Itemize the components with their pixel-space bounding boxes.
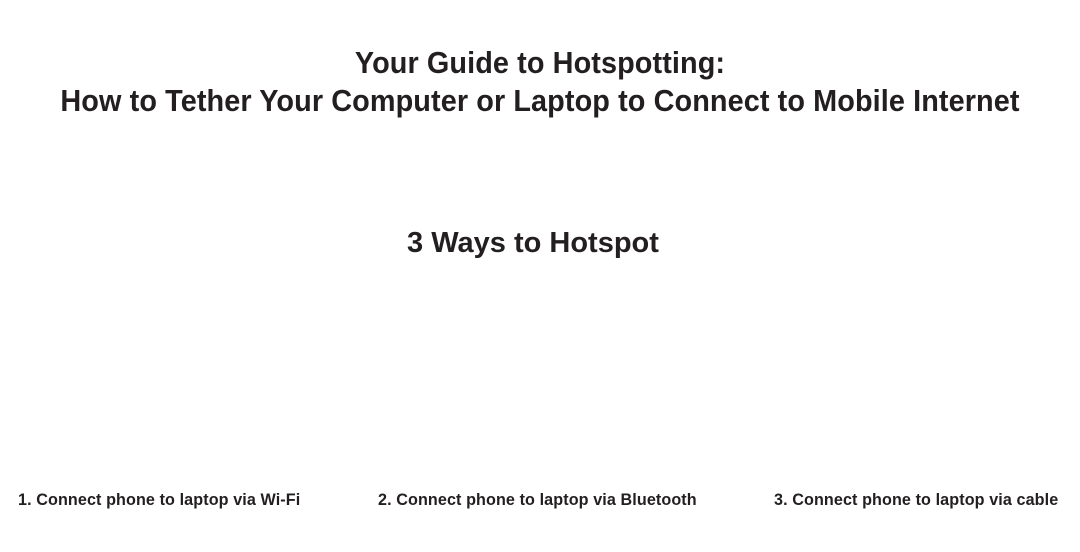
infographic-page: Your Guide to Hotspotting: How to Tether… [0, 0, 1080, 552]
step-caption-row: 1. Connect phone to laptop via Wi-Fi 2. … [0, 488, 1080, 516]
page-title-line-2: How to Tether Your Computer or Laptop to… [38, 82, 1042, 120]
page-title-line-1: Your Guide to Hotspotting: [38, 44, 1042, 82]
illustration-band [0, 278, 1080, 478]
step-caption-cable: 3. Connect phone to laptop via cable [774, 488, 1058, 512]
illustration-slot-wifi [18, 278, 308, 478]
page-title: Your Guide to Hotspotting: How to Tether… [0, 44, 1080, 120]
step-caption-bluetooth: 2. Connect phone to laptop via Bluetooth [378, 488, 697, 512]
step-caption-wifi: 1. Connect phone to laptop via Wi-Fi [18, 488, 300, 512]
illustration-slot-cable [772, 278, 1062, 478]
illustration-slot-bluetooth [378, 278, 705, 478]
section-heading: 3 Ways to Hotspot [0, 224, 1080, 262]
